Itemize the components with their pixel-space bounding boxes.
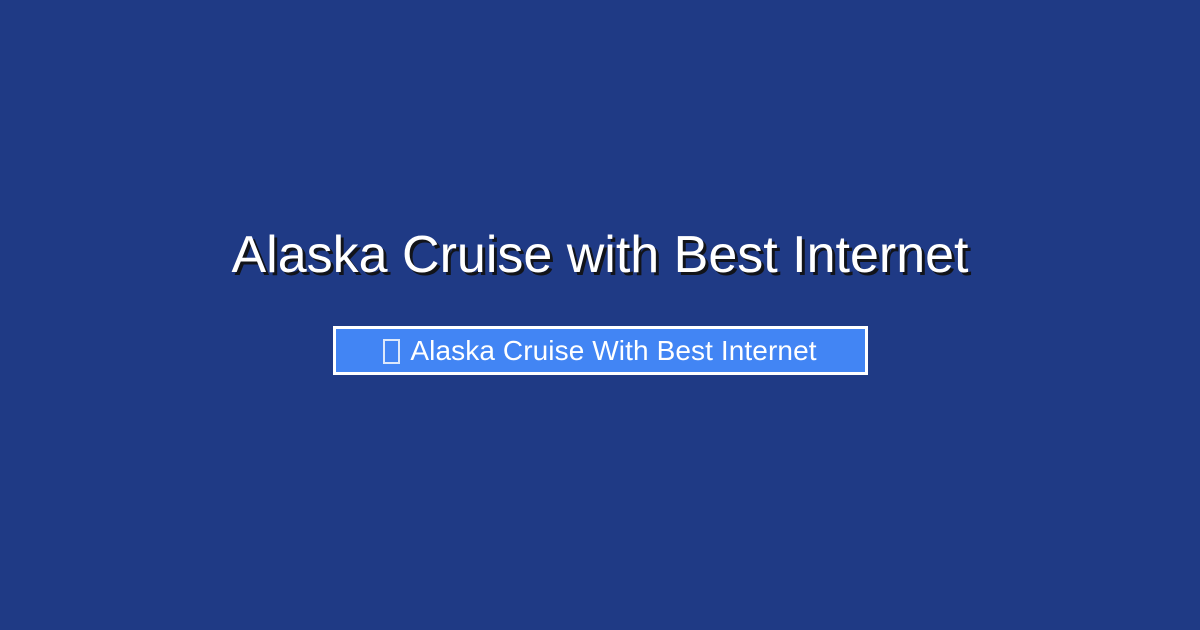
- cta-button-label: Alaska Cruise With Best Internet: [383, 337, 816, 365]
- page-title: Alaska Cruise with Best Internet: [232, 228, 969, 283]
- cta-button-text: Alaska Cruise With Best Internet: [410, 337, 816, 365]
- cta-row: Alaska Cruise With Best Internet: [0, 326, 1200, 375]
- og-card: Alaska Cruise with Best Internet Alaska …: [0, 0, 1200, 630]
- missing-glyph-box-icon: [383, 339, 400, 364]
- cta-button[interactable]: Alaska Cruise With Best Internet: [333, 326, 868, 375]
- title-block: Alaska Cruise with Best Internet: [0, 228, 1200, 283]
